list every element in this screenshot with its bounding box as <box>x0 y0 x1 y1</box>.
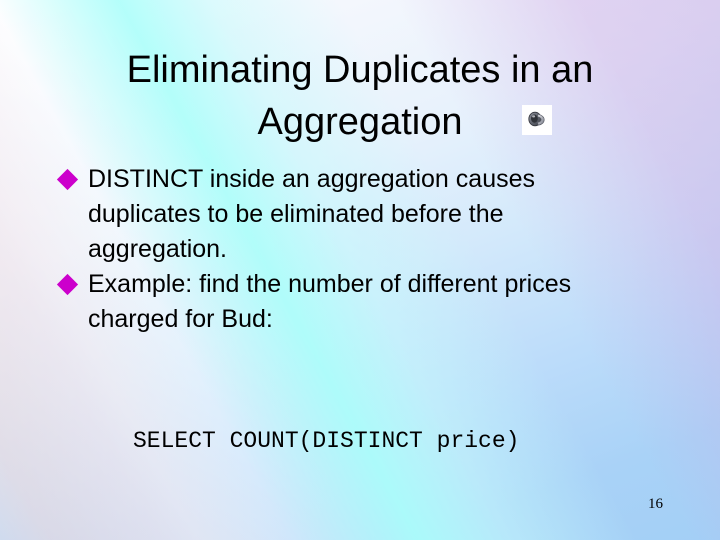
diamond-bullet-icon <box>57 169 78 190</box>
bullet-item-1-text: DISTINCT inside an aggregation causes du… <box>88 162 682 267</box>
diamond-bullet-icon <box>57 274 78 295</box>
bullet-item-1: DISTINCT inside an aggregation causes du… <box>58 162 682 267</box>
bullet-list: DISTINCT inside an aggregation causes du… <box>58 162 682 337</box>
sql-code-block: SELECT COUNT(DISTINCT price) FROM Sells … <box>133 344 519 540</box>
bullet-item-2-text: Example: find the number of different pr… <box>88 267 682 337</box>
speaker-icon[interactable] <box>522 105 552 135</box>
slide-title: Eliminating Duplicates in an Aggregation <box>46 44 674 148</box>
code-line-1: SELECT COUNT(DISTINCT price) <box>133 422 519 461</box>
page-number: 16 <box>648 496 663 512</box>
slide-canvas: Eliminating Duplicates in an Aggregation <box>0 0 720 540</box>
slide-content: Eliminating Duplicates in an Aggregation <box>0 0 720 540</box>
bullet-item-2: Example: find the number of different pr… <box>58 267 682 337</box>
